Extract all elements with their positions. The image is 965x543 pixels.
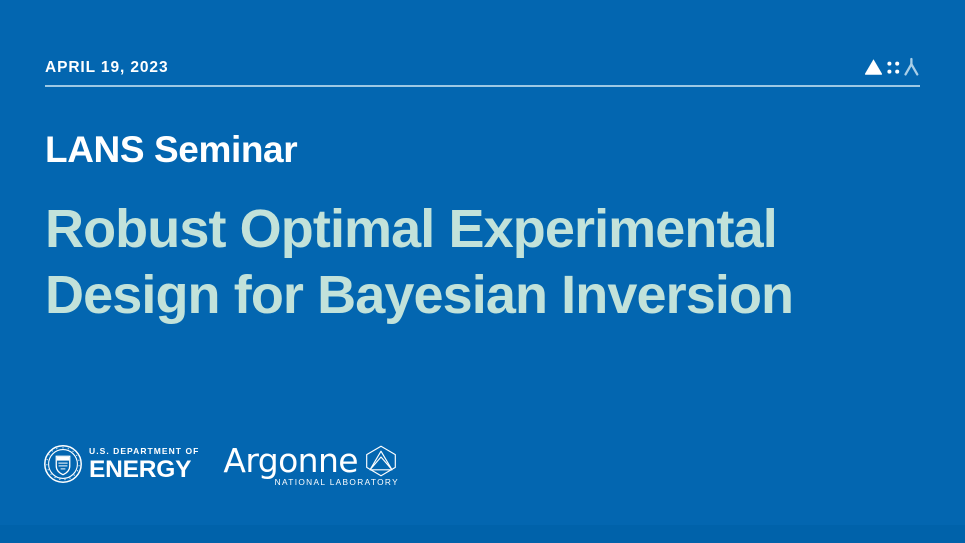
page-title-line-1: Robust Optimal Experimental: [45, 196, 925, 262]
header-divider-rule: [45, 85, 920, 87]
page-title-line-2: Design for Bayesian Inversion: [45, 262, 925, 328]
doe-logo: U.S. DEPARTMENT OF ENERGY: [44, 442, 199, 486]
logo-lockup: U.S. DEPARTMENT OF ENERGY Argonne: [44, 437, 400, 491]
argonne-hexagon-icon: [362, 444, 400, 478]
slide-header: APRIL 19, 2023: [45, 58, 920, 94]
doe-energy-text: ENERGY: [89, 457, 199, 482]
bottom-accent-strip: [0, 525, 965, 543]
seminar-series-label: LANS Seminar: [45, 127, 297, 173]
doe-seal-icon: [44, 445, 82, 483]
argonne-wordmark-text: Argonne: [223, 444, 358, 478]
doe-department-text: U.S. DEPARTMENT OF: [89, 446, 199, 456]
slide-date: APRIL 19, 2023: [45, 58, 168, 78]
presentation-title-slide: APRIL 19, 2023 LANS Seminar: [0, 0, 965, 543]
argonne-subtitle-text: NATIONAL LABORATORY: [223, 477, 400, 488]
page-title: Robust Optimal Experimental Design for B…: [45, 196, 925, 328]
doe-wordmark: U.S. DEPARTMENT OF ENERGY: [89, 446, 199, 482]
argonne-logo: Argonne NATIONAL LABORATORY: [223, 439, 400, 490]
argonne-wordmark-row: Argonne: [223, 444, 400, 478]
argonne-mark-icon: [864, 56, 920, 80]
